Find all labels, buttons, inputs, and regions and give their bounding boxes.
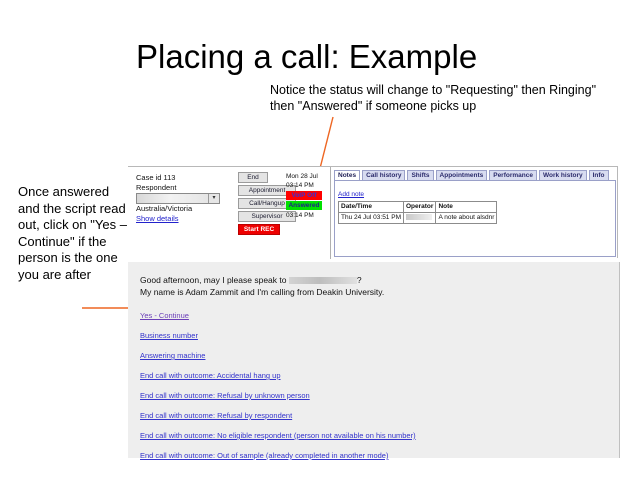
callout-instruction-note: Once answered and the script read out, c…: [18, 184, 130, 283]
notes-table: Date/Time Operator Note Thu 24 Jul 03:51…: [338, 201, 497, 224]
script-greeting-text: Good afternoon, may I please speak to: [140, 275, 289, 285]
add-note-link[interactable]: Add note: [338, 190, 364, 199]
cell-datetime: Thu 24 Jul 03:51 PM: [339, 213, 404, 224]
show-details-link[interactable]: Show details: [136, 214, 231, 224]
app-header-panel: Case id 113 Respondent ▾ Australia/Victo…: [128, 166, 618, 258]
respondent-label: Respondent: [136, 183, 231, 193]
option-refusal-unknown-person[interactable]: End call with outcome: Refusal by unknow…: [140, 391, 619, 401]
call-info-block: Case id 113 Respondent ▾ Australia/Victo…: [136, 173, 231, 223]
status-badge-voip: VoIP Off: [286, 191, 322, 200]
option-business-number[interactable]: Business number: [140, 331, 619, 341]
column-note: Note: [436, 202, 497, 213]
script-greeting-line: Good afternoon, may I please speak to ?: [140, 274, 619, 286]
status-time-bottom: 03:14 PM: [286, 211, 332, 220]
callout-status-note: Notice the status will change to "Reques…: [270, 82, 600, 114]
start-rec-button[interactable]: Start REC: [238, 224, 280, 235]
table-row[interactable]: Thu 24 Jul 03:51 PM A note about alsdnr: [339, 213, 497, 224]
column-operator: Operator: [403, 202, 435, 213]
tabs-panel: Notes Call history Shifts Appointments P…: [331, 167, 618, 259]
timezone-label: Australia/Victoria: [136, 204, 231, 214]
call-status-block: Mon 28 Jul 03:14 PM VoIP Off Answered 03…: [286, 172, 332, 220]
script-options-list: Yes - Continue Business number Answering…: [140, 311, 619, 461]
case-id-label: Case id 113: [136, 173, 231, 183]
redacted-respondent-name: [289, 277, 357, 284]
option-yes-continue[interactable]: Yes - Continue: [140, 311, 619, 321]
option-accidental-hangup[interactable]: End call with outcome: Accidental hang u…: [140, 371, 619, 381]
option-no-eligible-respondent[interactable]: End call with outcome: No eligible respo…: [140, 431, 619, 441]
script-panel: Good afternoon, may I please speak to ? …: [128, 262, 620, 458]
option-out-of-sample[interactable]: End call with outcome: Out of sample (al…: [140, 451, 619, 461]
redacted-operator: [406, 214, 432, 220]
option-answering-machine[interactable]: Answering machine: [140, 351, 619, 361]
end-button[interactable]: End: [238, 172, 268, 183]
respondent-select[interactable]: ▾: [136, 193, 220, 204]
notes-tab-content: Add note Date/Time Operator Note Thu 24 …: [334, 180, 616, 257]
cell-operator: [403, 213, 435, 224]
column-datetime: Date/Time: [339, 202, 404, 213]
chevron-down-icon[interactable]: ▾: [208, 194, 219, 203]
status-badge-state: Answered: [286, 201, 322, 210]
script-intro-line: My name is Adam Zammit and I'm calling f…: [140, 286, 619, 298]
page-title: Placing a call: Example: [136, 38, 477, 76]
cell-note: A note about alsdnr: [436, 213, 497, 224]
status-date: Mon 28 Jul: [286, 172, 332, 181]
script-greeting-suffix: ?: [357, 275, 362, 285]
table-header-row: Date/Time Operator Note: [339, 202, 497, 213]
embedded-app-screenshot: Case id 113 Respondent ▾ Australia/Victo…: [128, 166, 620, 458]
status-time-top: 03:14 PM: [286, 181, 332, 190]
option-refusal-respondent[interactable]: End call with outcome: Refusal by respon…: [140, 411, 619, 421]
